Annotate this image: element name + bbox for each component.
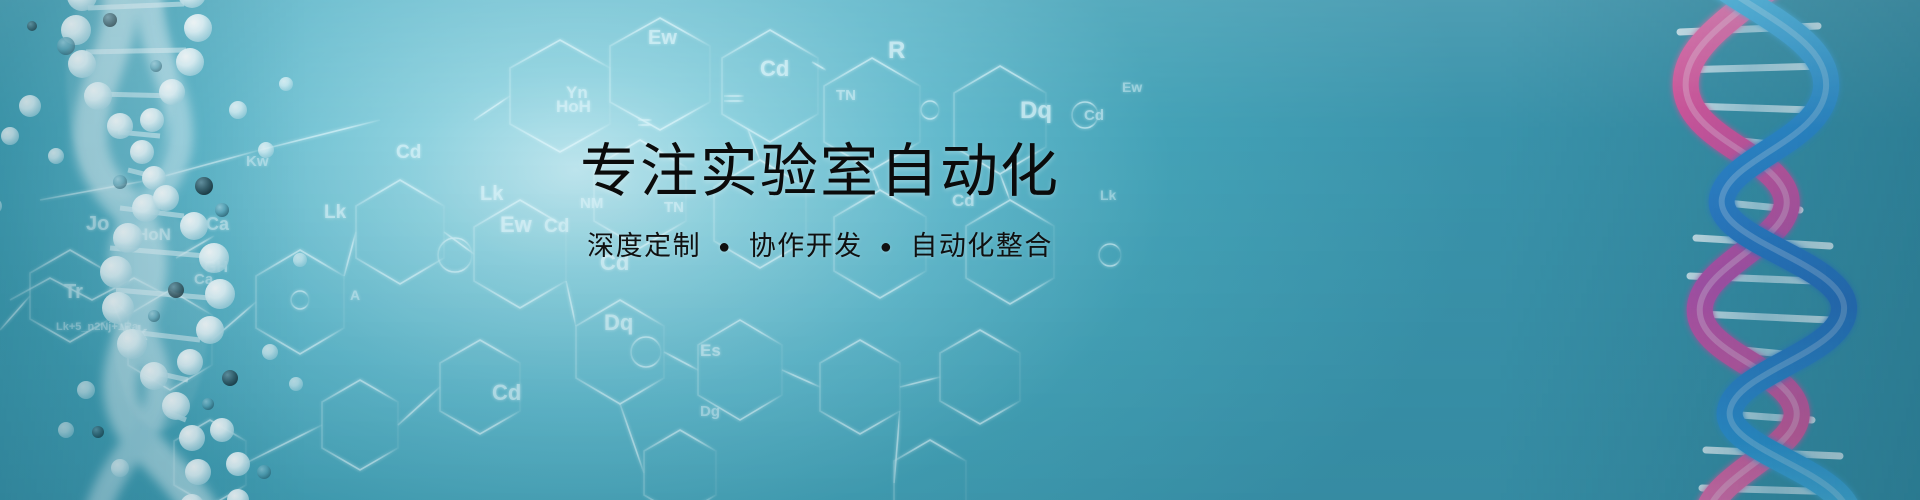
page-title: 专注实验室自动化 [0, 142, 1640, 202]
subtitle-part-1: 深度定制 [585, 231, 703, 261]
subtitle-part-3: 自动化整合 [908, 231, 1055, 261]
banner-subtitle: 深度定制 ● 协作开发 ● 自动化整合 [0, 224, 1640, 263]
hero-banner: Cd R Dq Yn Ew HoH Lk Cd Cd Ew Lk Ca Jo H… [0, 0, 1920, 500]
bullet-separator-2: ● [874, 236, 900, 258]
subtitle-part-2: 协作开发 [747, 231, 865, 261]
bullet-separator-1: ● [712, 236, 738, 258]
banner-copy: 专注实验室自动化 深度定制 ● 协作开发 ● 自动化整合 [0, 142, 1640, 263]
